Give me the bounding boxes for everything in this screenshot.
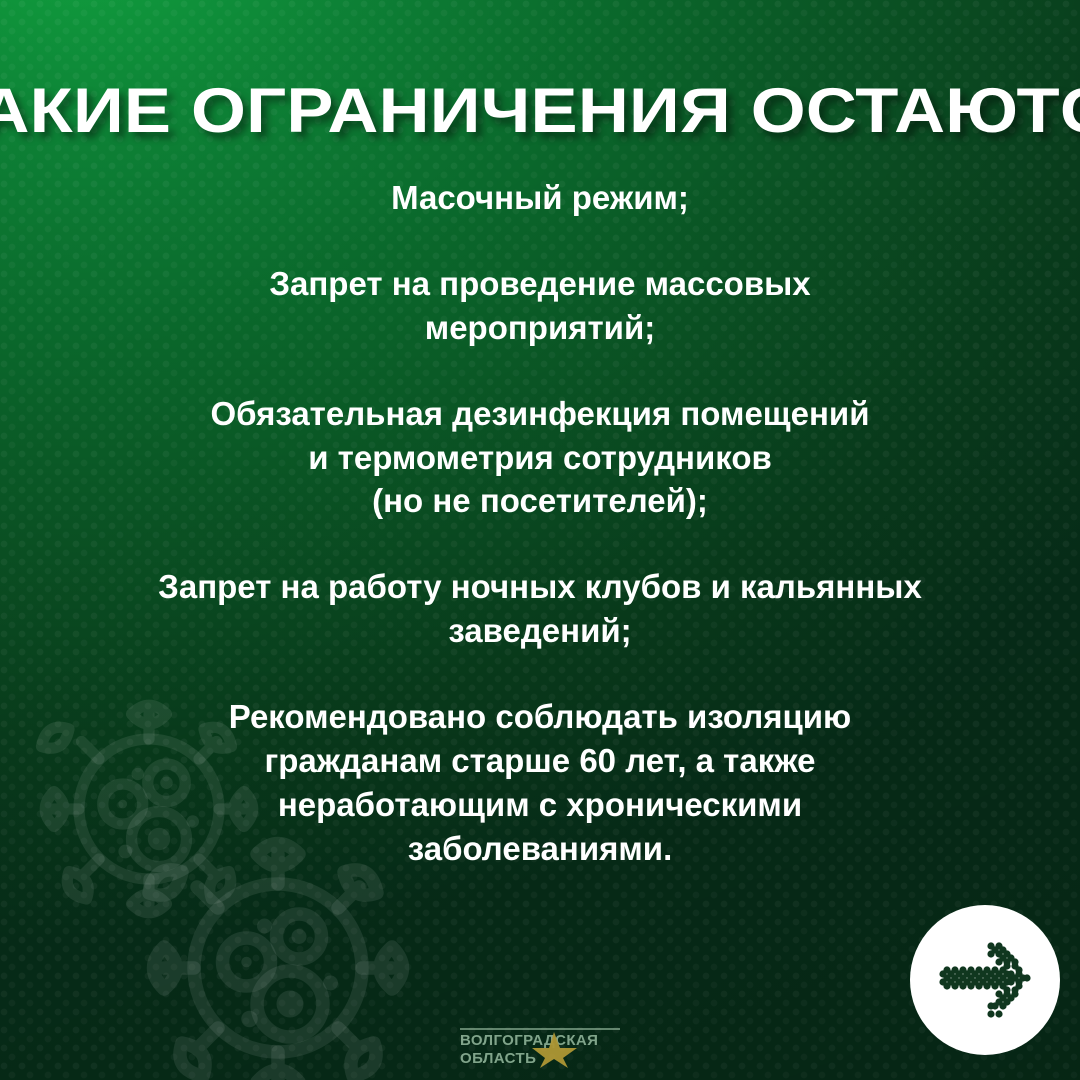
restriction-item: Рекомендовано соблюдать изоляцию граждан…: [60, 695, 1020, 871]
restriction-item: Запрет на работу ночных клубов и кальянн…: [60, 565, 1020, 653]
volgograd-region-logo: ВОЛГОГРАДСКАЯ ОБЛАСТЬ: [454, 1018, 626, 1068]
arrow-right-dotted-icon: [937, 941, 1033, 1019]
restriction-item: Масочный режим;: [60, 176, 1020, 220]
logo-line-1: ВОЛГОГРАДСКАЯ: [460, 1032, 598, 1049]
restriction-item: Запрет на проведение массовых мероприяти…: [60, 262, 1020, 350]
logo-line-2: ОБЛАСТЬ: [460, 1050, 536, 1067]
restrictions-list: Масочный режим; Запрет на проведение мас…: [60, 176, 1020, 871]
next-slide-button[interactable]: [910, 905, 1060, 1055]
restriction-item: Обязательная дезинфекция помещений и тер…: [60, 392, 1020, 524]
page-title: КАКИЕ ОГРАНИЧЕНИЯ ОСТАЮТСЯ?: [0, 78, 1080, 144]
poster-canvas: КАКИЕ ОГРАНИЧЕНИЯ ОСТАЮТСЯ? Масочный реж…: [0, 0, 1080, 1080]
